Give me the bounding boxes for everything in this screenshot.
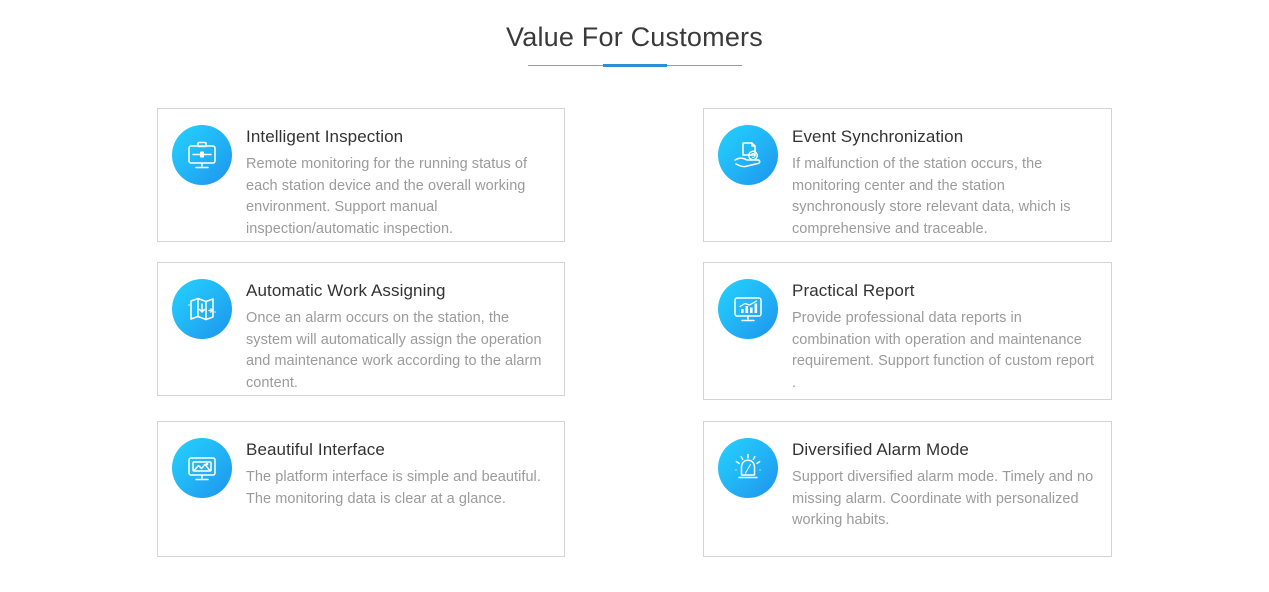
alarm-siren-icon bbox=[718, 438, 778, 498]
feature-card-description: If malfunction of the station occurs, th… bbox=[792, 154, 1097, 240]
feature-card[interactable]: Beautiful Interface The platform interfa… bbox=[157, 421, 565, 557]
feature-card-text: Diversified Alarm Mode Support diversifi… bbox=[792, 438, 1097, 532]
feature-cards-grid: Intelligent Inspection Remote monitoring… bbox=[157, 108, 1111, 558]
feature-card-description: Support diversified alarm mode. Timely a… bbox=[792, 467, 1097, 532]
feature-card-title: Intelligent Inspection bbox=[246, 126, 550, 148]
feature-card-title: Event Synchronization bbox=[792, 126, 1097, 148]
feature-card[interactable]: Event Synchronization If malfunction of … bbox=[703, 108, 1112, 242]
monitor-picture-icon bbox=[172, 438, 232, 498]
feature-card[interactable]: Automatic Work Assigning Once an alarm o… bbox=[157, 262, 565, 396]
hand-document-sync-icon bbox=[718, 125, 778, 185]
feature-card-text: Event Synchronization If malfunction of … bbox=[792, 125, 1097, 240]
feature-card-text: Intelligent Inspection Remote monitoring… bbox=[246, 125, 550, 240]
feature-card-description: Remote monitoring for the running status… bbox=[246, 154, 550, 240]
monitor-inspection-icon bbox=[172, 125, 232, 185]
work-assign-map-icon bbox=[172, 279, 232, 339]
feature-card-title: Practical Report bbox=[792, 280, 1097, 302]
page-title: Value For Customers bbox=[0, 18, 1269, 56]
feature-card-title: Beautiful Interface bbox=[246, 439, 550, 461]
title-underline-accent bbox=[603, 64, 667, 67]
feature-card[interactable]: Practical Report Provide professional da… bbox=[703, 262, 1112, 400]
feature-card-text: Automatic Work Assigning Once an alarm o… bbox=[246, 279, 550, 394]
feature-card-title: Automatic Work Assigning bbox=[246, 280, 550, 302]
feature-card[interactable]: Intelligent Inspection Remote monitoring… bbox=[157, 108, 565, 242]
feature-card-description: The platform interface is simple and bea… bbox=[246, 467, 550, 510]
feature-card[interactable]: Diversified Alarm Mode Support diversifi… bbox=[703, 421, 1112, 557]
section-header: Value For Customers bbox=[0, 18, 1269, 67]
feature-card-description: Once an alarm occurs on the station, the… bbox=[246, 308, 550, 394]
feature-card-description: Provide professional data reports in com… bbox=[792, 308, 1097, 394]
feature-card-text: Beautiful Interface The platform interfa… bbox=[246, 438, 550, 510]
title-underline bbox=[528, 64, 742, 67]
feature-card-text: Practical Report Provide professional da… bbox=[792, 279, 1097, 394]
feature-card-title: Diversified Alarm Mode bbox=[792, 439, 1097, 461]
monitor-chart-report-icon bbox=[718, 279, 778, 339]
